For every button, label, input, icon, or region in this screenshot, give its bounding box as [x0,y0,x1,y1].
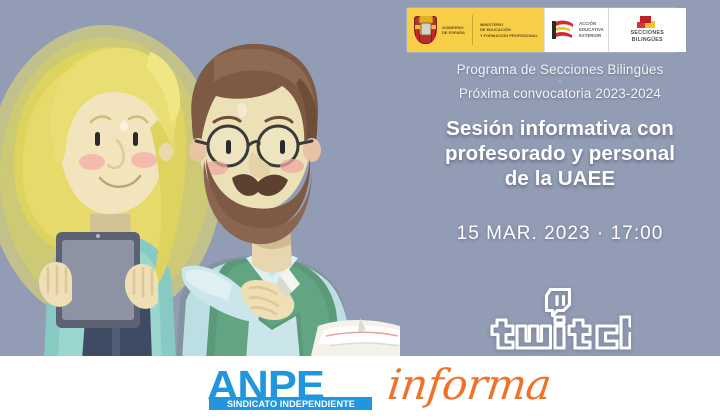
gobierno-label: GOBIERNO DE ESPAÑA [442,25,465,36]
secciones-bilingues-label: SECCIONES BILINGÜES [631,30,664,45]
event-datetime: 15 MAR. 2023 · 17:00 [400,223,720,245]
ministerio-label: MINISTERIO DE EDUCACIÓN Y FORMACIÓN PROF… [480,22,538,38]
anpe-informa-logo: ANPE SINDICATO INDEPENDIENTE informa [207,364,557,414]
spain-flag-e-icon [551,18,575,42]
event-title: Sesión informativa con profesorado y per… [400,117,720,191]
event-title-line-3: de la UAEE [400,167,720,192]
gobierno-de-espana-logo: GOBIERNO DE ESPAÑA MINISTERIO DE EDUCACI… [407,8,544,52]
poster-canvas: GOBIERNO DE ESPAÑA MINISTERIO DE EDUCACI… [0,0,720,420]
subtitle-separator: - [400,78,720,85]
twitch-logo[interactable] [400,286,720,352]
institutional-logo-bar: GOBIERNO DE ESPAÑA MINISTERIO DE EDUCACI… [407,8,677,52]
secciones-bilingues-logo: SECCIONES BILINGÜES [608,8,686,52]
anpe-tagline-text: SINDICATO INDEPENDIENTE [211,397,371,410]
logo-divider [472,15,473,45]
informa-text: informa [385,360,554,409]
event-title-line-1: Sesión informativa con [400,117,720,142]
convocatoria-subtitle: Próxima convocatoria 2023-2024 [400,86,720,101]
anpe-footer-band: ANPE SINDICATO INDEPENDIENTE informa [0,356,720,420]
event-text-block: Programa de Secciones Bilingües - Próxim… [400,62,720,245]
event-title-line-2: profesorado y personal [400,142,720,167]
spain-coat-of-arms-icon [414,16,437,44]
accion-educativa-label: ACCIÓN EDUCATIVA EXTERIOR [579,21,604,39]
accion-educativa-exterior-logo: ACCIÓN EDUCATIVA EXTERIOR [544,8,608,52]
secciones-bilingues-mark-icon [635,16,659,29]
teachers-illustration [0,0,400,360]
